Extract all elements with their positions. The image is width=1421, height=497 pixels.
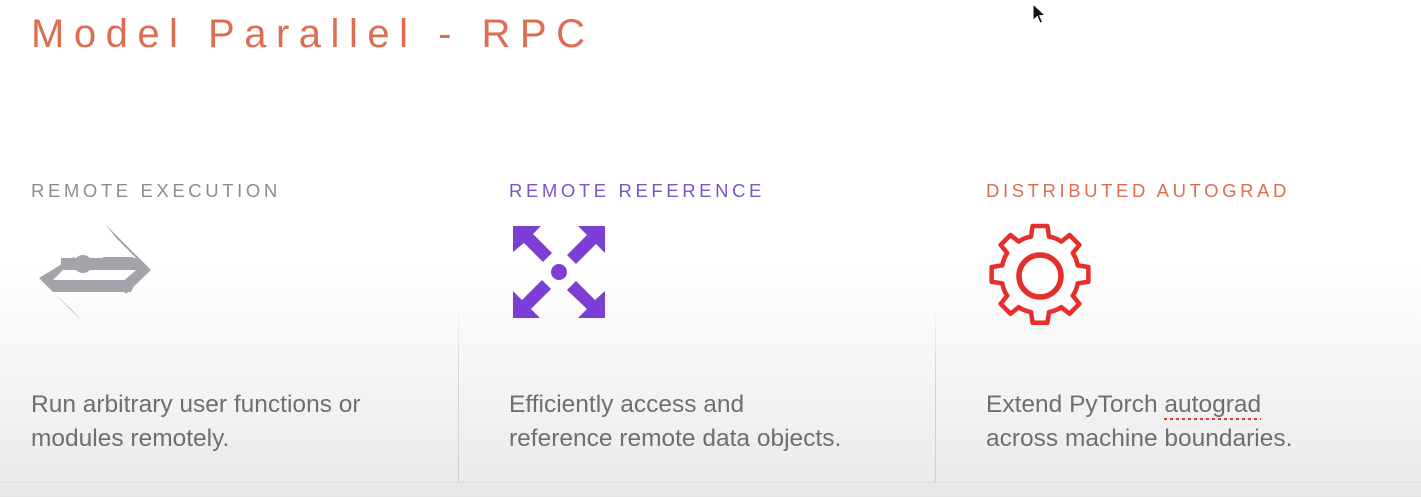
slide-title: Model Parallel - RPC: [31, 12, 594, 57]
column-heading-remote-reference: REMOTE REFERENCE: [509, 180, 939, 202]
slide-canvas: Model Parallel - RPC REMOTE EXECUTION Ru…: [0, 0, 1421, 497]
expand-four-arrows-icon: [509, 222, 939, 332]
body-text-suffix: across machine boundaries.: [986, 425, 1292, 452]
misspelled-word-autograd: autograd: [1164, 391, 1261, 420]
column-body-remote-reference: Efficiently access and reference remote …: [509, 388, 849, 456]
body-text-prefix: Extend PyTorch: [986, 391, 1164, 418]
column-heading-remote-execution: REMOTE EXECUTION: [31, 180, 461, 202]
gear-icon: [986, 222, 1416, 332]
column-heading-distributed-autograd: DISTRIBUTED AUTOGRAD: [986, 180, 1416, 202]
bidirectional-arrows-icon: [31, 222, 461, 332]
mouse-pointer-icon: [1032, 3, 1048, 27]
column-body-remote-execution: Run arbitrary user functions or modules …: [31, 388, 371, 456]
column-remote-reference: REMOTE REFERENCE Efficiently access and …: [509, 180, 939, 332]
column-body-distributed-autograd: Extend PyTorch autograd across machine b…: [986, 388, 1326, 456]
bottom-rule: [0, 482, 1421, 483]
column-remote-execution: REMOTE EXECUTION Run arbitrary user func…: [31, 180, 461, 332]
column-distributed-autograd: DISTRIBUTED AUTOGRAD Extend PyTorch auto…: [986, 180, 1416, 332]
